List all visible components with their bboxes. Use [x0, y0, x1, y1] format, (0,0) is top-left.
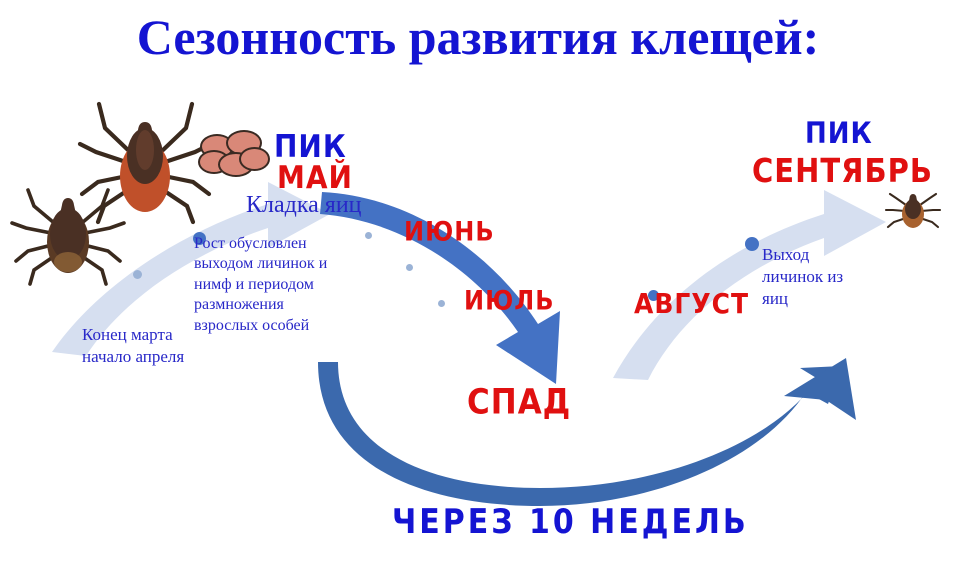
tick-icon-large	[80, 104, 211, 222]
marker-dot	[133, 270, 142, 279]
label-september: СЕНТЯБРЬ	[752, 152, 933, 190]
marker-dot	[438, 300, 445, 307]
marker-dot	[406, 264, 413, 271]
note-larvae-hatch: Выход личинок из яиц	[762, 244, 872, 309]
label-august: АВГУСТ	[634, 287, 749, 319]
note-egg-laying: Кладка яиц	[246, 190, 362, 221]
label-june: ИЮНЬ	[404, 216, 495, 247]
label-peak-sept-kicker: ПИК	[805, 117, 873, 151]
label-decline: СПАД	[467, 382, 571, 422]
note-growth-reason: Рост обусловлен выходом личинок и нимф и…	[194, 234, 344, 336]
tick-icon-small	[886, 194, 940, 228]
label-after-ten-weeks: ЧЕРЕЗ 10 НЕДЕЛЬ	[392, 503, 749, 542]
note-late-march: Конец марта начало апреля	[82, 324, 242, 368]
label-july: ИЮЛЬ	[464, 285, 554, 316]
egg-cluster-icon	[198, 130, 268, 182]
blue-u-cycle-arrow	[318, 358, 856, 506]
marker-dot	[365, 232, 372, 239]
marker-dot	[745, 237, 759, 251]
slide-canvas: Сезонность развития клещей:	[0, 0, 956, 563]
